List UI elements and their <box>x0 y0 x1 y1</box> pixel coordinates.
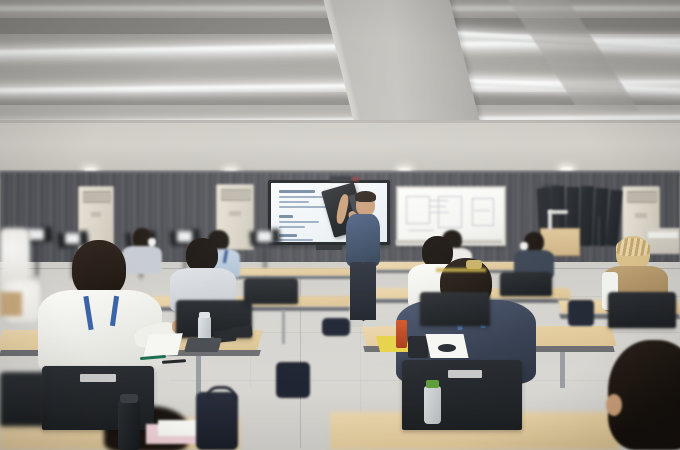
chair[interactable] <box>244 278 298 304</box>
thermos <box>118 400 140 450</box>
seminar-room-photo: Classroom seminar — presenter holding a … <box>0 0 680 450</box>
smartphone <box>231 325 252 338</box>
face-mask <box>520 242 528 250</box>
hair-highlight <box>616 238 650 256</box>
bag <box>276 362 310 398</box>
bag-handle <box>206 386 236 401</box>
thermos-cap <box>120 394 138 403</box>
presenter <box>330 188 384 330</box>
bag <box>568 300 594 326</box>
chair-label <box>448 370 482 378</box>
bag <box>322 318 350 336</box>
presenter-shirt <box>346 214 380 266</box>
chair[interactable] <box>420 292 490 326</box>
upper-wall <box>0 120 680 176</box>
pen-holder <box>396 320 407 348</box>
green-bottle <box>424 386 441 424</box>
green-bottle-cap <box>426 380 439 388</box>
attendee-foreground-right <box>600 340 680 450</box>
table-leg <box>196 356 201 396</box>
mousepad <box>184 338 222 352</box>
presenter-pants <box>350 262 363 322</box>
cardboard-box <box>0 292 22 316</box>
ear <box>606 394 622 416</box>
head <box>186 238 218 272</box>
white-papers <box>143 333 183 357</box>
smartphone <box>408 336 428 358</box>
dark-disc <box>438 344 456 352</box>
table-leg <box>560 352 565 388</box>
presenter-hair <box>355 191 376 202</box>
floor-cable <box>436 268 486 272</box>
chair[interactable] <box>608 292 676 328</box>
camera-on-display <box>330 176 352 182</box>
presenter-shoe <box>363 320 380 327</box>
chair[interactable] <box>500 272 552 296</box>
presenter-pants <box>363 262 376 322</box>
table-leg <box>282 310 285 344</box>
head <box>608 340 680 450</box>
chair[interactable] <box>402 360 522 430</box>
bottle-cap <box>199 312 210 318</box>
chair[interactable] <box>0 372 46 426</box>
red-indicator <box>352 177 359 181</box>
chair-label <box>80 374 116 382</box>
document-camera-arm <box>548 210 568 214</box>
